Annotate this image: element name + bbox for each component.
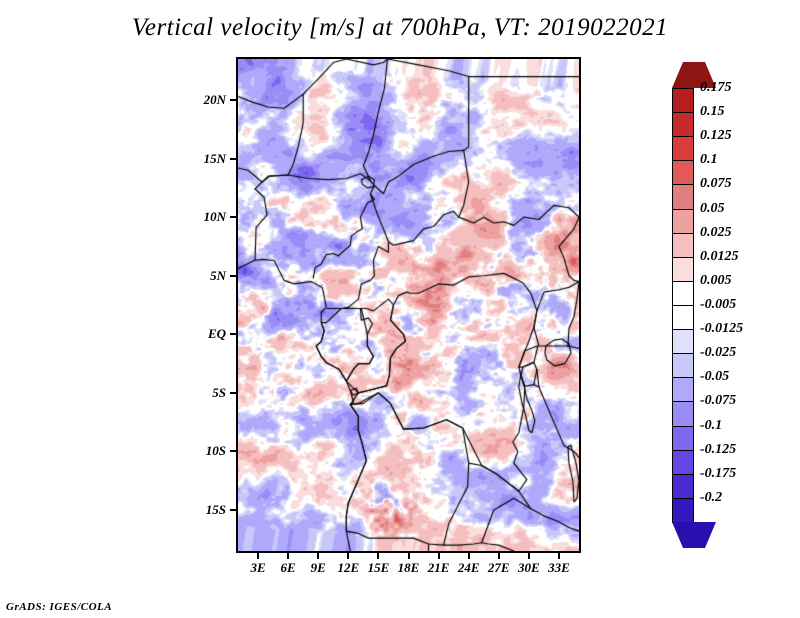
colorbar-label: 0.1 <box>700 152 718 168</box>
lat-tick <box>230 333 236 335</box>
lat-label-eq: EQ <box>208 326 226 342</box>
country-borders-overlay <box>238 59 579 551</box>
lat-tick <box>230 216 236 218</box>
lon-label-30e: 30E <box>518 560 540 576</box>
colorbar-segment[interactable] <box>672 353 694 378</box>
lon-tick <box>438 553 440 559</box>
lat-label-15s: 15S <box>206 502 226 518</box>
lon-label-33e: 33E <box>548 560 570 576</box>
lon-tick <box>347 553 349 559</box>
colorbar-label: 0.075 <box>700 176 732 192</box>
colorbar-label: 0.05 <box>700 201 725 217</box>
lon-label-6e: 6E <box>281 560 296 576</box>
lon-label-18e: 18E <box>398 560 420 576</box>
colorbar-arrow-bottom <box>672 522 716 548</box>
lon-tick <box>287 553 289 559</box>
colorbar-segment[interactable] <box>672 281 694 306</box>
lat-label-20n: 20N <box>204 92 226 108</box>
colorbar-label: -0.175 <box>700 466 736 482</box>
lon-tick <box>468 553 470 559</box>
colorbar-label: 0.025 <box>700 225 732 241</box>
colorbar-segment[interactable] <box>672 305 694 330</box>
lon-tick <box>498 553 500 559</box>
colorbar-label: 0.005 <box>700 273 732 289</box>
lon-tick <box>257 553 259 559</box>
colorbar-label: -0.005 <box>700 297 736 313</box>
colorbar-label: -0.1 <box>700 418 722 434</box>
colorbar[interactable] <box>672 62 694 548</box>
colorbar-label: 0.0125 <box>700 249 739 265</box>
lat-label-5n: 5N <box>210 268 226 284</box>
lon-label-27e: 27E <box>488 560 510 576</box>
colorbar-label: -0.025 <box>700 345 736 361</box>
lon-tick <box>377 553 379 559</box>
lat-tick <box>230 509 236 511</box>
colorbar-segment[interactable] <box>672 233 694 258</box>
lon-label-24e: 24E <box>458 560 480 576</box>
colorbar-segment[interactable] <box>672 184 694 209</box>
colorbar-label: -0.075 <box>700 393 736 409</box>
footer-credit: GrADS: IGES/COLA <box>6 601 112 613</box>
colorbar-label: -0.0125 <box>700 321 743 337</box>
colorbar-segment[interactable] <box>672 88 694 113</box>
colorbar-segment[interactable] <box>672 450 694 475</box>
page-title: Vertical velocity [m/s] at 700hPa, VT: 2… <box>0 14 800 42</box>
colorbar-label: -0.2 <box>700 490 722 506</box>
lat-label-5s: 5S <box>212 385 226 401</box>
lon-tick <box>317 553 319 559</box>
lon-label-21e: 21E <box>428 560 450 576</box>
colorbar-segment[interactable] <box>672 426 694 451</box>
lat-tick <box>230 450 236 452</box>
map-plot-area[interactable] <box>236 57 581 553</box>
lon-tick <box>408 553 410 559</box>
colorbar-segment[interactable] <box>672 136 694 161</box>
lon-label-15e: 15E <box>368 560 390 576</box>
lat-tick <box>230 275 236 277</box>
lat-label-10s: 10S <box>206 443 226 459</box>
lat-label-15n: 15N <box>204 151 226 167</box>
colorbar-segment[interactable] <box>672 329 694 354</box>
lon-tick <box>528 553 530 559</box>
colorbar-segment[interactable] <box>672 209 694 234</box>
colorbar-label: 0.175 <box>700 80 732 96</box>
colorbar-segment[interactable] <box>672 377 694 402</box>
lon-label-12e: 12E <box>337 560 359 576</box>
lon-label-3e: 3E <box>250 560 265 576</box>
colorbar-label: 0.125 <box>700 128 732 144</box>
colorbar-segment[interactable] <box>672 474 694 499</box>
lon-label-9e: 9E <box>311 560 326 576</box>
lat-label-10n: 10N <box>204 209 226 225</box>
lat-tick <box>230 392 236 394</box>
lon-tick <box>558 553 560 559</box>
colorbar-label: -0.05 <box>700 369 729 385</box>
lat-tick <box>230 99 236 101</box>
colorbar-label: 0.15 <box>700 104 725 120</box>
colorbar-segment[interactable] <box>672 112 694 137</box>
lat-tick <box>230 158 236 160</box>
colorbar-segment[interactable] <box>672 160 694 185</box>
colorbar-segment[interactable] <box>672 401 694 426</box>
colorbar-segment[interactable] <box>672 257 694 282</box>
colorbar-label: -0.125 <box>700 442 736 458</box>
colorbar-segment[interactable] <box>672 498 694 523</box>
